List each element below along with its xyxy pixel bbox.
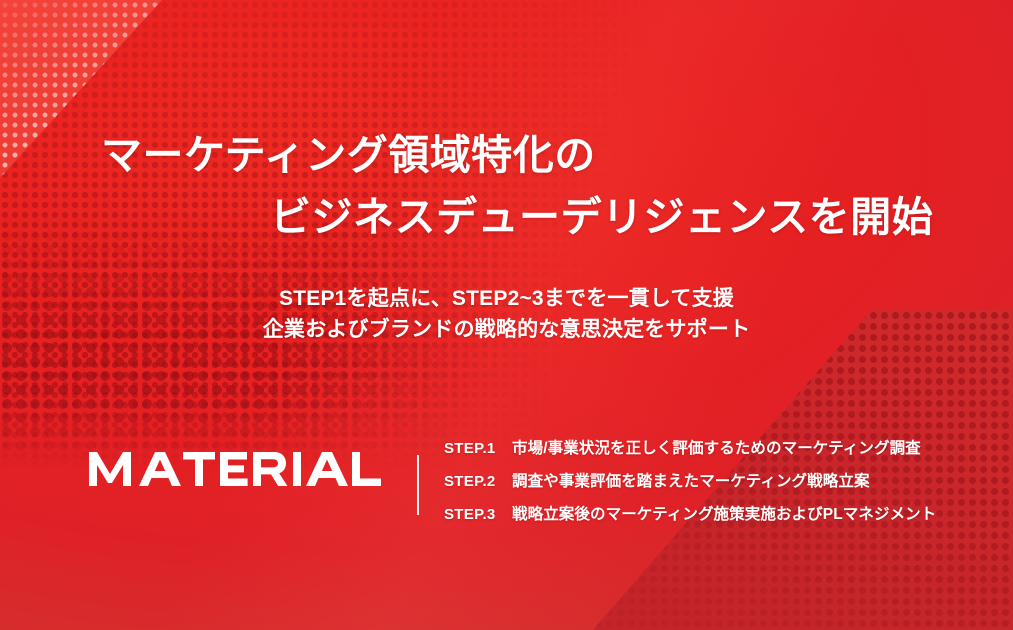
headline-line-1: マーケティング領域特化の [0,124,1013,186]
subtitle: STEP1を起点に、STEP2~3までを一貫して支援 企業およびブランドの戦略的… [0,283,1013,345]
step-item: STEP.2 調査や事業評価を踏まえたマーケティング戦略立案 [444,469,984,502]
steps-list: STEP.1 市場/事業状況を正しく評価するためのマーケティング調査 STEP.… [444,436,984,535]
promo-banner: マーケティング領域特化の ビジネスデューデリジェンスを開始 STEP1を起点に、… [0,0,1013,630]
step-description: 市場/事業状況を正しく評価するためのマーケティング調査 [512,436,984,458]
headline: マーケティング領域特化の ビジネスデューデリジェンスを開始 [0,124,1013,248]
step-label: STEP.1 [444,440,512,457]
step-label: STEP.3 [444,506,512,523]
bottom-row: STEP.1 市場/事業状況を正しく評価するためのマーケティング調査 STEP.… [0,430,1013,530]
material-logo [89,452,381,486]
step-label: STEP.2 [444,473,512,490]
subtitle-line-2: 企業およびブランドの戦略的な意思決定をサポート [0,314,1013,345]
step-description: 調査や事業評価を踏まえたマーケティング戦略立案 [512,469,984,491]
subtitle-line-1: STEP1を起点に、STEP2~3までを一貫して支援 [0,283,1013,314]
step-item: STEP.3 戦略立案後のマーケティング施策実施およびPLマネジメント [444,502,984,535]
step-description: 戦略立案後のマーケティング施策実施およびPLマネジメント [512,502,984,524]
logo-divider [417,455,419,515]
headline-line-2: ビジネスデューデリジェンスを開始 [0,186,1013,248]
step-item: STEP.1 市場/事業状況を正しく評価するためのマーケティング調査 [444,436,984,469]
